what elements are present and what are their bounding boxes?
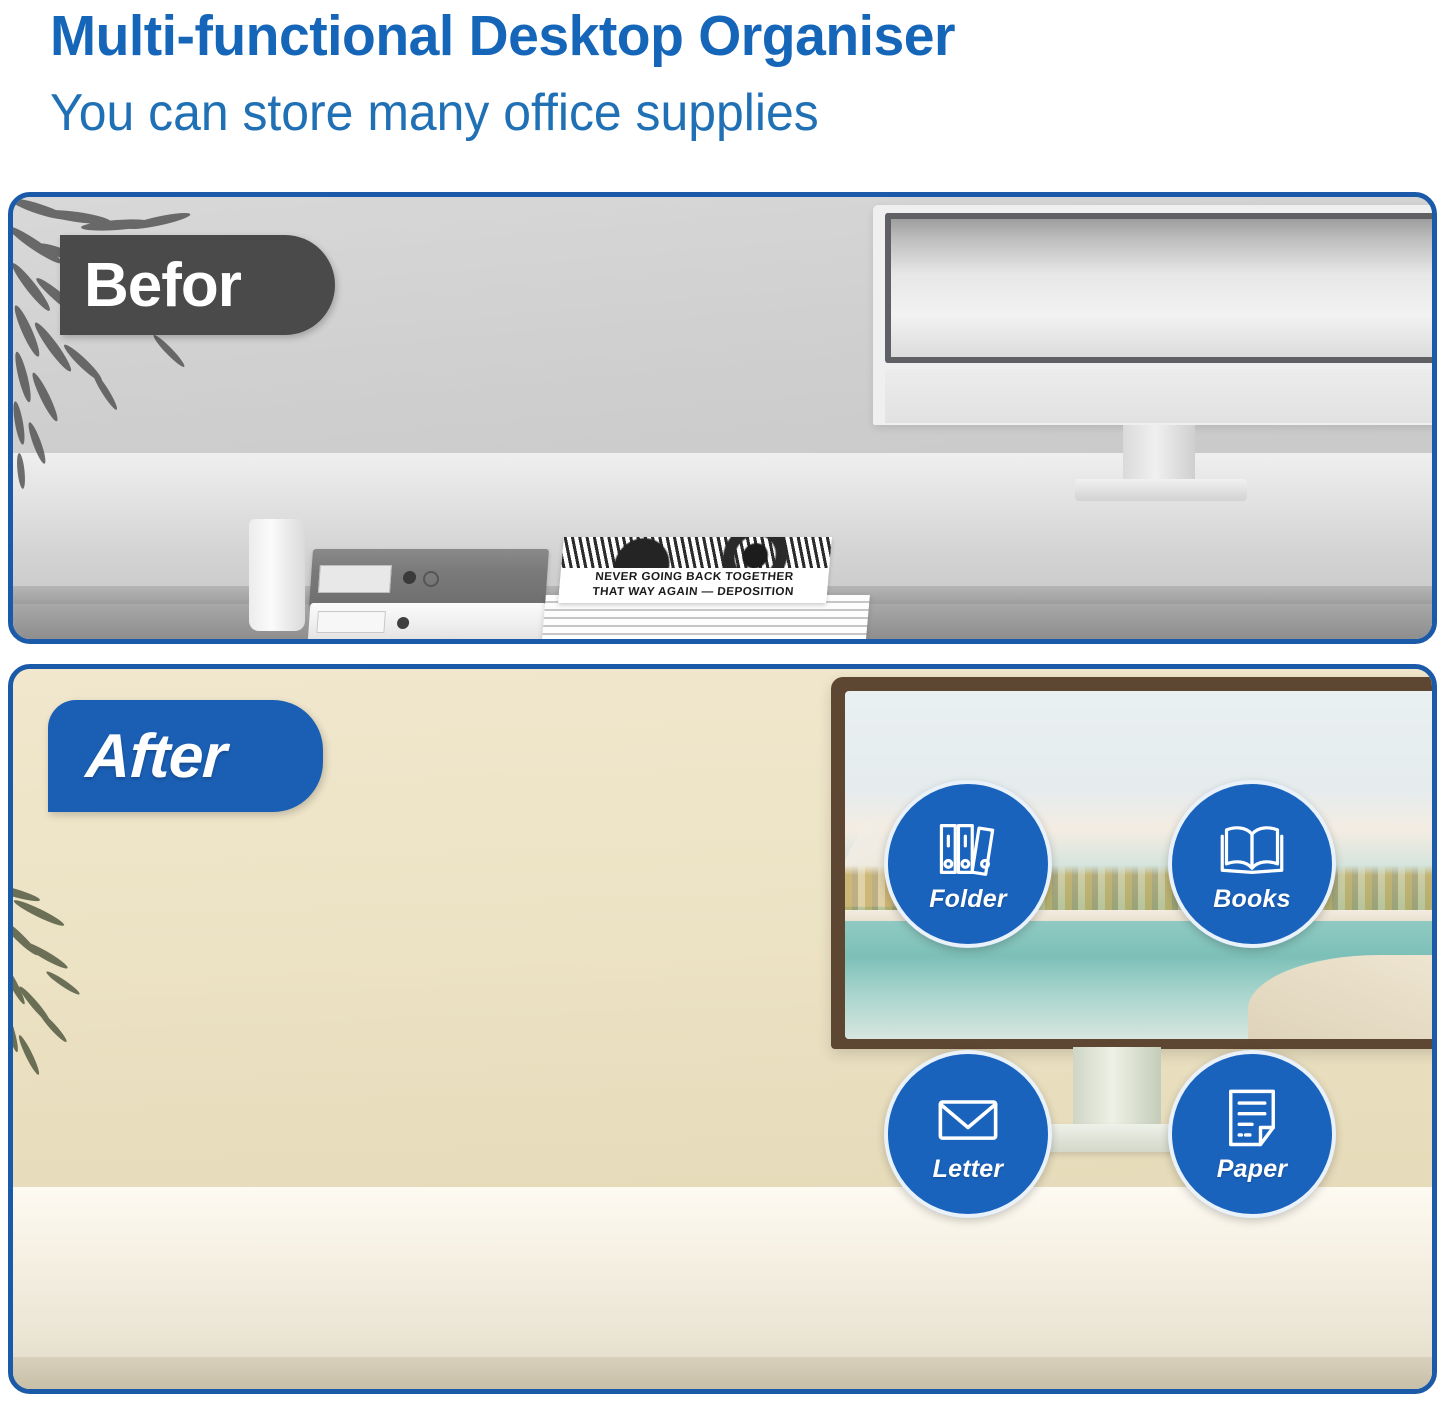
before-binder-light (308, 603, 547, 639)
feature-folder[interactable]: Folder (884, 780, 1052, 948)
document-page-icon (1217, 1085, 1287, 1153)
folder-binders-icon (933, 815, 1003, 883)
before-binder-ring-icon (423, 571, 439, 587)
envelope-icon (933, 1085, 1003, 1153)
before-monitor (873, 205, 1432, 425)
feature-paper[interactable]: Paper (1168, 1050, 1336, 1218)
open-book-icon (1217, 815, 1287, 883)
book-title-line-1: NEVER GOING BACK TOGETHER (563, 570, 825, 584)
after-badge: After (48, 700, 323, 812)
feature-label: Paper (1217, 1155, 1287, 1184)
page-subtitle: You can store many office supplies (50, 82, 1389, 144)
before-top-book: NEVER GOING BACK TOGETHER THAT WAY AGAIN… (558, 537, 832, 603)
feature-label: Folder (929, 885, 1007, 914)
feature-letter[interactable]: Letter (884, 1050, 1052, 1218)
before-monitor-stand-foot (1075, 479, 1247, 501)
before-badge: Befor (60, 235, 335, 335)
page-title: Multi-functional Desktop Organiser (50, 4, 1403, 70)
feature-label: Books (1213, 885, 1290, 914)
before-monitor-stand-neck (1123, 425, 1195, 483)
after-badge-label: After (84, 721, 227, 792)
after-desk-edge (13, 1357, 1432, 1389)
before-badge-label: Befor (84, 250, 241, 321)
book-title-line-2: THAT WAY AGAIN — DEPOSITION (562, 585, 824, 599)
before-monitor-screen (885, 213, 1432, 363)
feature-label: Letter (933, 1155, 1004, 1184)
page-header: Multi-functional Desktop Organiser You c… (0, 0, 1445, 186)
before-top-book-title: NEVER GOING BACK TOGETHER THAT WAY AGAIN… (558, 568, 832, 601)
before-vase (249, 519, 305, 631)
feature-books[interactable]: Books (1168, 780, 1336, 948)
before-monitor-chin (885, 369, 1432, 423)
after-monitor-stand-neck (1073, 1047, 1161, 1133)
